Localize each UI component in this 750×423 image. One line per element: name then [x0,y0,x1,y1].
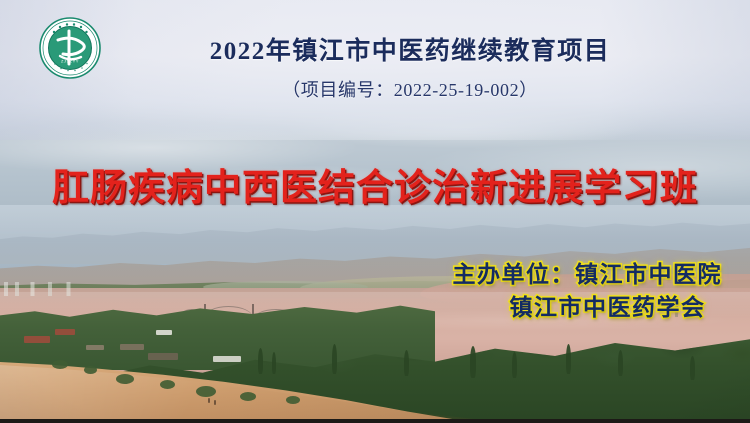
organizer-line-secondary: 镇江市中医药学会 [453,291,723,324]
hospital-logo-icon: ZJSZYY [38,16,102,80]
svg-text:ZJSZYY: ZJSZYY [61,59,79,64]
conference-poster: ZJSZYY 2022年镇江市中医药继续教育项目 （项目编号：2022-25-1… [0,0,750,423]
event-title: 2022年镇江市中医药继续教育项目 [140,38,680,67]
organizer-line-primary: 主办单位：镇江市中医院 [453,258,723,291]
bottom-edge-band [0,419,750,423]
course-headline: 肛肠疾病中西医结合诊治新进展学习班 [0,157,750,211]
project-code: （项目编号：2022-25-19-002） [140,76,680,102]
header-text-block: 2022年镇江市中医药继续教育项目 （项目编号：2022-25-19-002） [140,38,680,102]
organizer-block: 主办单位：镇江市中医院 镇江市中医药学会 [453,258,723,323]
